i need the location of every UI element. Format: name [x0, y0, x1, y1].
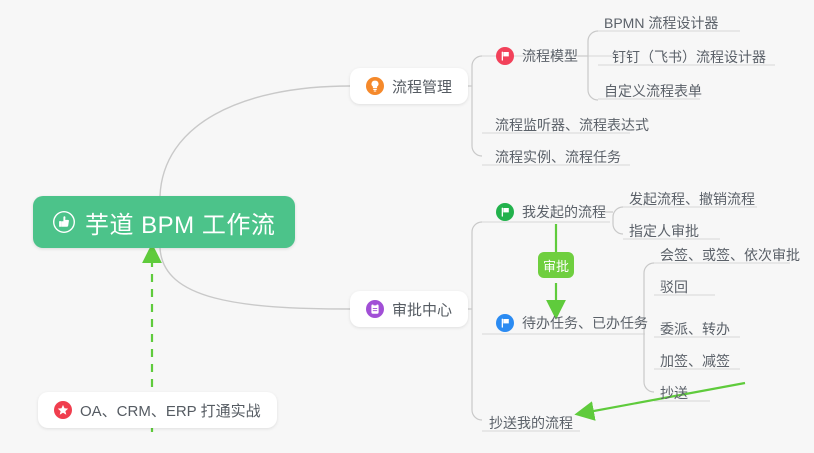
node-delegate-transfer[interactable]: 委派、转办 — [652, 316, 738, 342]
node-label-start-cancel-process: 发起流程、撤销流程 — [629, 189, 755, 209]
node-label-cc-to-me: 抄送我的流程 — [489, 413, 573, 433]
node-label-process-instance: 流程实例、流程任务 — [495, 147, 621, 167]
flag-icon — [496, 314, 514, 332]
node-cc[interactable]: 抄送 — [652, 380, 696, 406]
node-label-delegate-transfer: 委派、转办 — [660, 319, 730, 339]
thumbs-up-icon — [53, 211, 75, 233]
clipboard-icon — [366, 300, 384, 318]
flag-icon — [496, 47, 514, 65]
node-reject[interactable]: 驳回 — [652, 274, 696, 300]
connector-approval-center-spine — [472, 222, 482, 420]
node-process-instance[interactable]: 流程实例、流程任务 — [487, 144, 629, 170]
node-add-remove-sign[interactable]: 加签、减签 — [652, 348, 738, 374]
connector-root-to-process-management — [160, 86, 350, 196]
floating-node-label-integration-practice: OA、CRM、ERP 打通实战 — [80, 400, 261, 421]
node-label-assignee-approval: 指定人审批 — [629, 221, 699, 241]
node-assignee-approval[interactable]: 指定人审批 — [621, 218, 707, 244]
node-label-my-initiated: 我发起的流程 — [522, 202, 606, 222]
root-node[interactable]: 芋道 BPM 工作流 — [33, 196, 295, 248]
branch-node-process-management[interactable]: 流程管理 — [350, 68, 468, 104]
connector-process-management-spine — [472, 56, 482, 156]
node-my-initiated[interactable]: 我发起的流程 — [488, 199, 614, 225]
node-todo-done-tasks[interactable]: 待办任务、已办任务 — [488, 310, 656, 336]
node-label-process-model: 流程模型 — [522, 46, 578, 66]
node-countersign[interactable]: 会签、或签、依次审批 — [652, 242, 808, 268]
star-icon — [54, 401, 72, 419]
mindmap-canvas: 芋道 BPM 工作流 流程管理 流程模型 BPMN 流程设计器 钉钉（飞书）流程 — [0, 0, 814, 453]
root-label: 芋道 BPM 工作流 — [85, 205, 275, 240]
node-process-listener[interactable]: 流程监听器、流程表达式 — [487, 112, 657, 138]
node-label-add-remove-sign: 加签、减签 — [660, 351, 730, 371]
node-label-countersign: 会签、或签、依次审批 — [660, 245, 800, 265]
node-process-model[interactable]: 流程模型 — [488, 43, 586, 69]
node-cc-to-me[interactable]: 抄送我的流程 — [481, 410, 581, 436]
node-label-todo-done-tasks: 待办任务、已办任务 — [522, 313, 648, 333]
flag-icon — [496, 203, 514, 221]
connector-root-to-approval-center — [160, 248, 350, 309]
node-label-bpmn-designer: BPMN 流程设计器 — [604, 13, 718, 33]
node-label-cc: 抄送 — [660, 383, 688, 403]
node-label-custom-form: 自定义流程表单 — [604, 81, 702, 101]
lightbulb-icon — [366, 77, 384, 95]
node-label-process-listener: 流程监听器、流程表达式 — [495, 115, 649, 135]
node-dingtalk-designer[interactable]: 钉钉（飞书）流程设计器 — [604, 44, 774, 70]
node-label-dingtalk-designer: 钉钉（飞书）流程设计器 — [612, 47, 766, 67]
node-label-reject: 驳回 — [660, 277, 688, 297]
annotation-tag-approval: 审批 — [538, 252, 574, 278]
branch-label-approval-center: 审批中心 — [392, 299, 452, 320]
annotation-tag-approval-label: 审批 — [543, 256, 569, 275]
node-custom-form[interactable]: 自定义流程表单 — [596, 78, 710, 104]
branch-label-process-management: 流程管理 — [392, 76, 452, 97]
node-start-cancel-process[interactable]: 发起流程、撤销流程 — [621, 186, 763, 212]
branch-node-approval-center[interactable]: 审批中心 — [350, 291, 468, 327]
floating-node-integration-practice[interactable]: OA、CRM、ERP 打通实战 — [38, 392, 277, 428]
node-bpmn-designer[interactable]: BPMN 流程设计器 — [596, 10, 726, 36]
